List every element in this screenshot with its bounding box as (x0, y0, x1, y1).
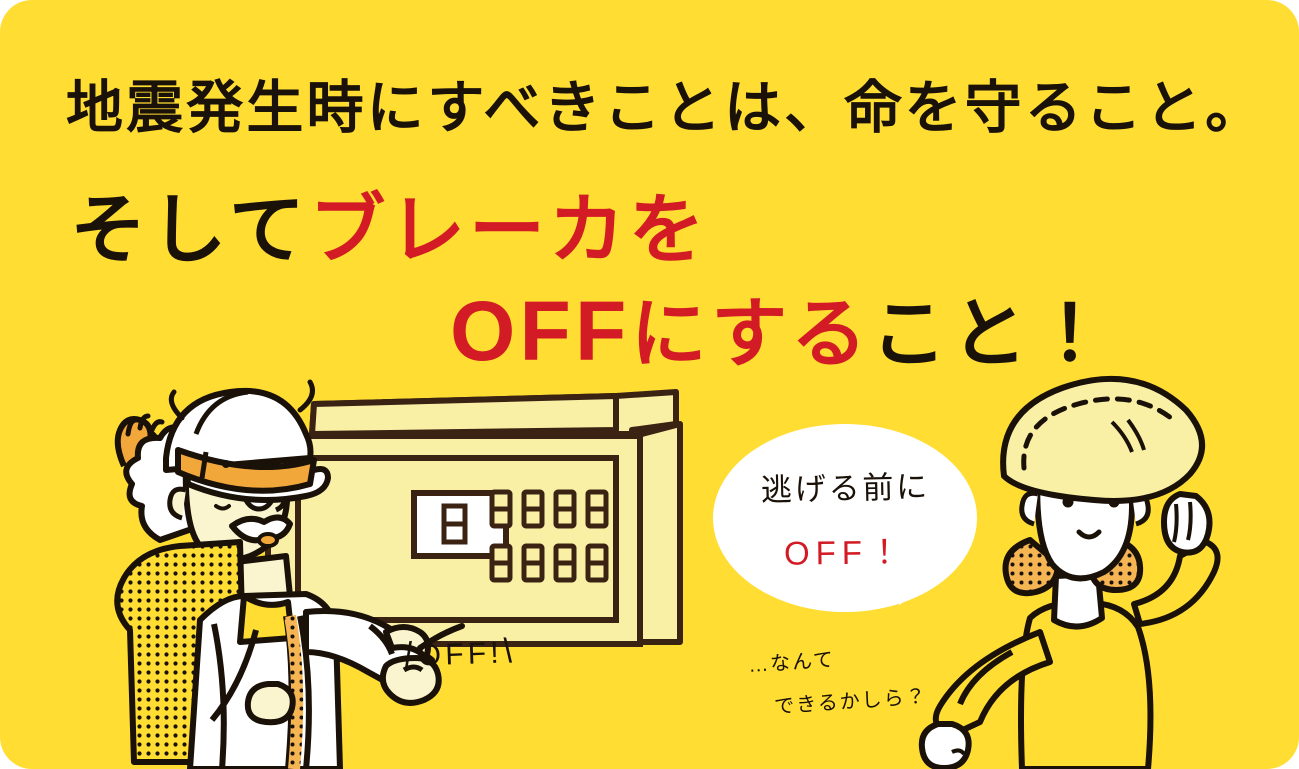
illustration-stage (0, 380, 1299, 769)
murmur-line-1: …なんて (747, 643, 836, 678)
woman-figure (922, 379, 1218, 769)
headline-line-3-off: OFF (450, 284, 631, 378)
off-tag-text: OFF! (417, 637, 503, 673)
headline-block: 地震発生時にすべきことは、命を守ること。 そしてブレーカを OFFにすること！ (0, 0, 1299, 400)
headline-line-2: そしてブレーカを (70, 168, 708, 278)
headline-line-2-black: そして (70, 188, 309, 273)
headline-line-3-black: こと！ (871, 292, 1113, 377)
poster-canvas: 地震発生時にすべきことは、命を守ること。 そしてブレーカを OFFにすること！ (0, 0, 1299, 769)
woman-murmur-text: …なんて できるかしら？ (744, 646, 954, 714)
headline-line-3-red-kana: にする (631, 292, 871, 377)
breaker-panel[interactable] (268, 392, 680, 644)
headline-line-2-red: ブレーカを (309, 188, 708, 273)
breaker-off-annotation: /OFF!\ (403, 632, 517, 675)
murmur-line-2: できるかしら？ (773, 680, 928, 720)
speech-bubble (713, 424, 977, 612)
headline-line-1: 地震発生時にすべきことは、命を守ること。 (66, 62, 1265, 144)
off-tag-right-slash: \ (502, 632, 517, 671)
headline-line-3: OFFにすること！ (450, 272, 1112, 382)
illustration-svg (0, 380, 1299, 769)
